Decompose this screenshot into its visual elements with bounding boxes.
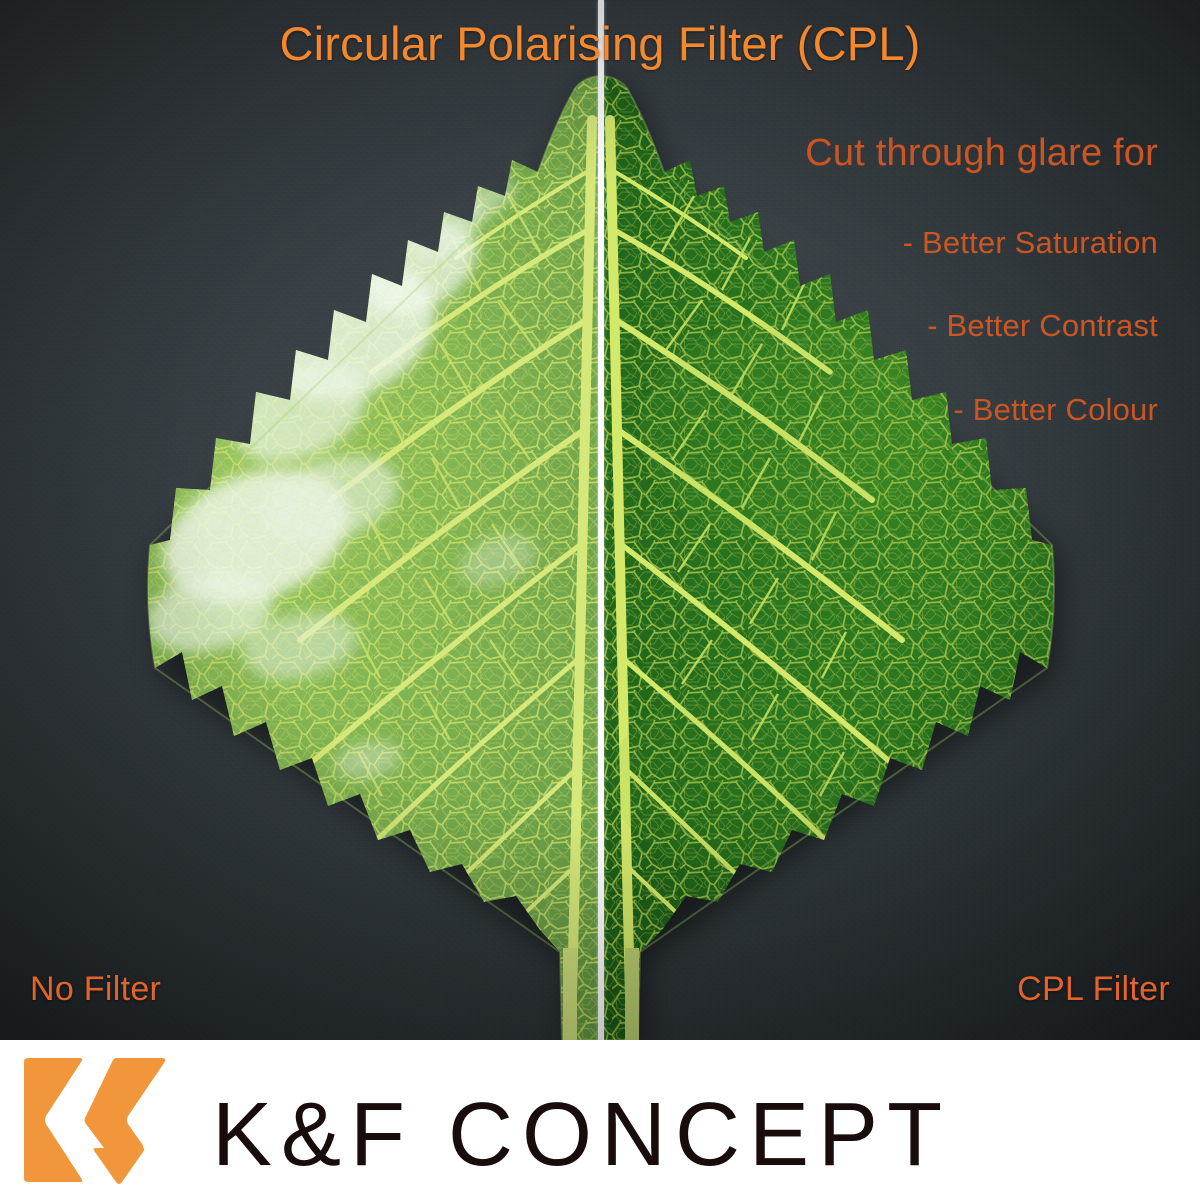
kf-logo-mark-icon: [24, 1054, 174, 1186]
brand-logo-bar: K&F CONCEPT: [0, 1040, 1200, 1200]
benefit-item-saturation: - Better Saturation: [903, 225, 1158, 261]
label-no-filter: No Filter: [30, 970, 161, 1009]
label-cpl-filter: CPL Filter: [1017, 970, 1170, 1009]
page-title: Circular Polarising Filter (CPL): [0, 18, 1200, 71]
benefit-item-colour: - Better Colour: [953, 392, 1158, 428]
brand-wordmark: K&F CONCEPT: [212, 1090, 951, 1180]
benefit-item-contrast: - Better Contrast: [927, 308, 1158, 344]
leaf-left-no-filter: [0, 0, 600, 1040]
headline-text: Cut through glare for: [805, 132, 1158, 175]
split-divider-line: [598, 0, 604, 1040]
cpl-comparison-poster: Circular Polarising Filter (CPL) Cut thr…: [0, 0, 1200, 1200]
leaf-comparison-photo: Circular Polarising Filter (CPL) Cut thr…: [0, 0, 1200, 1040]
